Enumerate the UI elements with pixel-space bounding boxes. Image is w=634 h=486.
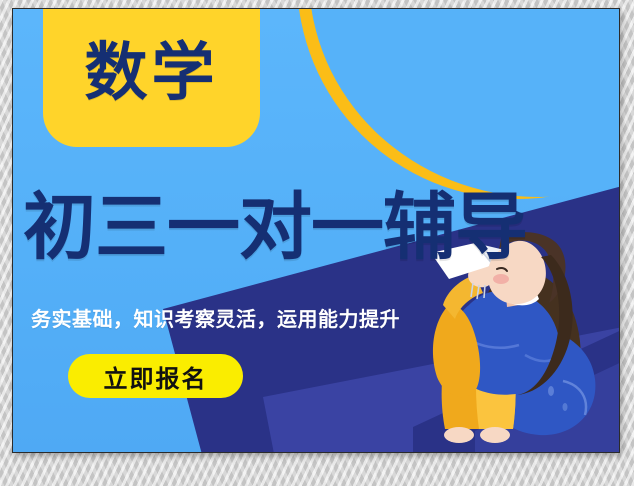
cheek-blush	[493, 274, 509, 284]
leg-dot-2	[563, 403, 568, 411]
poster-headline: 初三一对一辅导	[23, 191, 620, 265]
enroll-now-button-label: 立即报名	[104, 359, 208, 394]
leg-dot-1	[548, 386, 554, 396]
foot-right	[480, 427, 510, 443]
subject-badge-label: 数学	[85, 42, 219, 113]
enroll-now-button[interactable]: 立即报名	[68, 354, 243, 398]
poster-subtitle: 务实基础，知识考察灵活，运用能力提升	[31, 303, 400, 332]
subject-badge: 数学	[43, 8, 260, 147]
foot-left	[444, 427, 474, 443]
paper-backdrop: 数学 初三一对一辅导 务实基础，知识考察灵活，运用能力提升 立即报名 培训帮网	[0, 0, 634, 486]
course-poster: 数学 初三一对一辅导 务实基础，知识考察灵活，运用能力提升 立即报名 培训帮网	[12, 8, 620, 453]
